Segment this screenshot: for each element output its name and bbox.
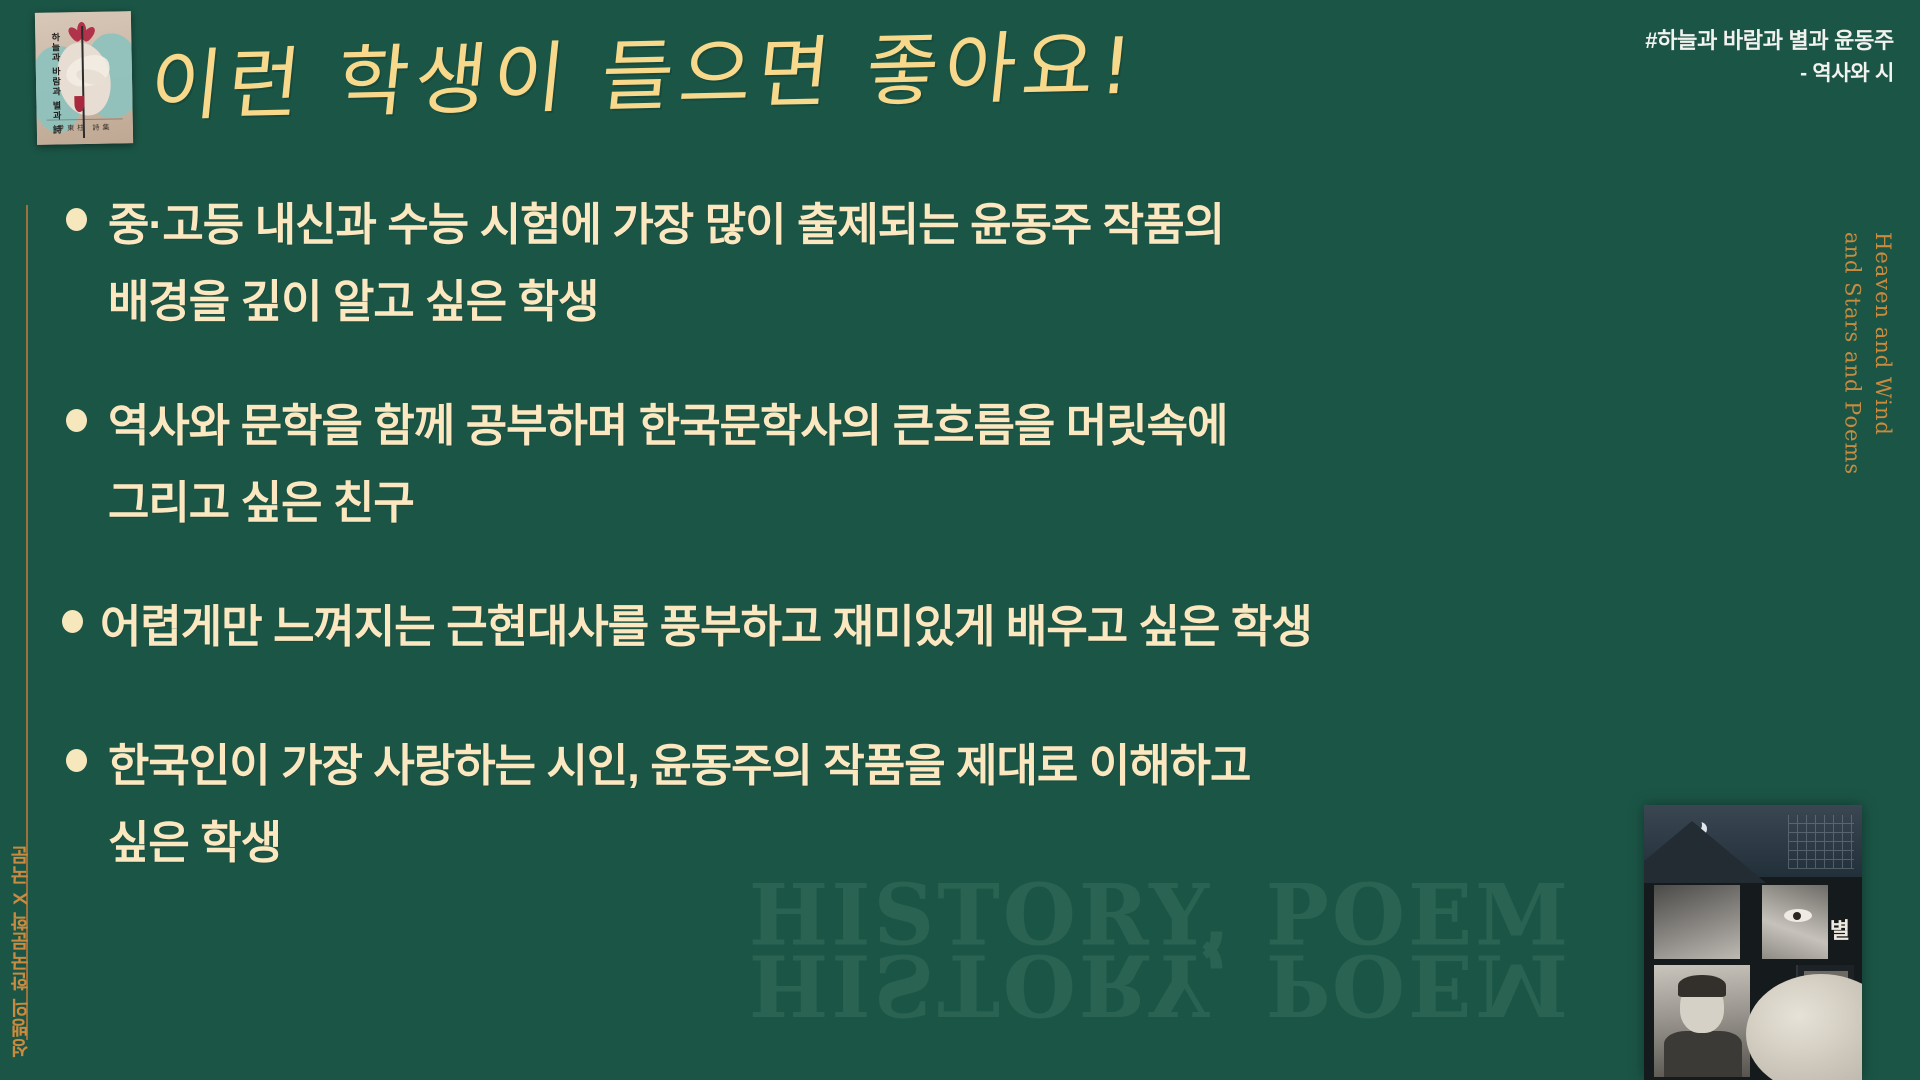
page-title: 이런 학생이 들으면 좋아요!	[145, 4, 1144, 137]
photo-light-blob	[1746, 974, 1862, 1080]
bullet-text: 역사와 문학을 함께 공부하며 한국문학사의 큰흐름을 머릿속에 그리고 싶은 …	[56, 387, 1746, 542]
list-item: 어렵게만 느껴지는 근현대사를 풍부하고 재미있게 배우고 싶은 학생	[56, 588, 1746, 665]
bullet-dot-icon	[66, 409, 87, 432]
bullet-dot-icon	[66, 208, 87, 231]
header-block: #하늘과 바람과 별과 윤동주 - 역사와 시	[1645, 24, 1894, 91]
list-item: 한국인이 가장 사랑하는 시인, 윤동주의 작품을 제대로 이해하고 싶은 학생	[56, 727, 1746, 882]
book-cover-author: 尹東柱 詩集	[37, 122, 133, 134]
photo-portrait-suit	[1664, 1031, 1742, 1077]
photo-mountain	[1644, 821, 1766, 883]
bullet-text: 어렵게만 느껴지는 근현대사를 풍부하고 재미있게 배우고 싶은 학생	[56, 588, 1746, 665]
vertical-text-left: 성뱅의 한국문학 X 국문	[8, 845, 35, 1058]
photo-portrait-hair	[1678, 975, 1726, 997]
photo-portrait-b	[1762, 885, 1828, 959]
photo-eye-detail	[1784, 909, 1812, 922]
photo-grid-pattern	[1788, 815, 1854, 869]
bullet-text: 한국인이 가장 사랑하는 시인, 윤동주의 작품을 제대로 이해하고 싶은 학생	[56, 727, 1746, 882]
star-glyph: 별	[1830, 913, 1850, 945]
bullet-text: 중·고등 내신과 수능 시험에 가장 많이 출제되는 윤동주 작품의 배경을 깊…	[56, 186, 1746, 341]
photo-portrait-a	[1654, 885, 1740, 959]
bullet-dot-icon	[62, 610, 83, 633]
header-hashtag: #하늘과 바람과 별과 윤동주	[1645, 24, 1894, 58]
header-subtitle: - 역사와 시	[1645, 58, 1894, 91]
book-cover-image: 하늘과 바람과 별과 詩 尹東柱 詩集	[35, 11, 133, 145]
watermark-bottom: HISTORY, POEM	[749, 936, 1571, 1035]
photo-collage-image: 별	[1644, 805, 1862, 1080]
slide-root: 하늘과 바람과 별과 詩 尹東柱 詩集 이런 학생이 들으면 좋아요! #하늘과…	[0, 0, 1920, 1080]
list-item: 중·고등 내신과 수능 시험에 가장 많이 출제되는 윤동주 작품의 배경을 깊…	[56, 186, 1746, 341]
list-item: 역사와 문학을 함께 공부하며 한국문학사의 큰흐름을 머릿속에 그리고 싶은 …	[56, 387, 1746, 542]
vertical-text-right: Heaven and Wind and Stars and Poems	[1837, 232, 1898, 475]
book-cover-accent	[74, 96, 84, 112]
bullet-dot-icon	[66, 749, 87, 772]
bullet-list: 중·고등 내신과 수능 시험에 가장 많이 출제되는 윤동주 작품의 배경을 깊…	[56, 186, 1746, 912]
